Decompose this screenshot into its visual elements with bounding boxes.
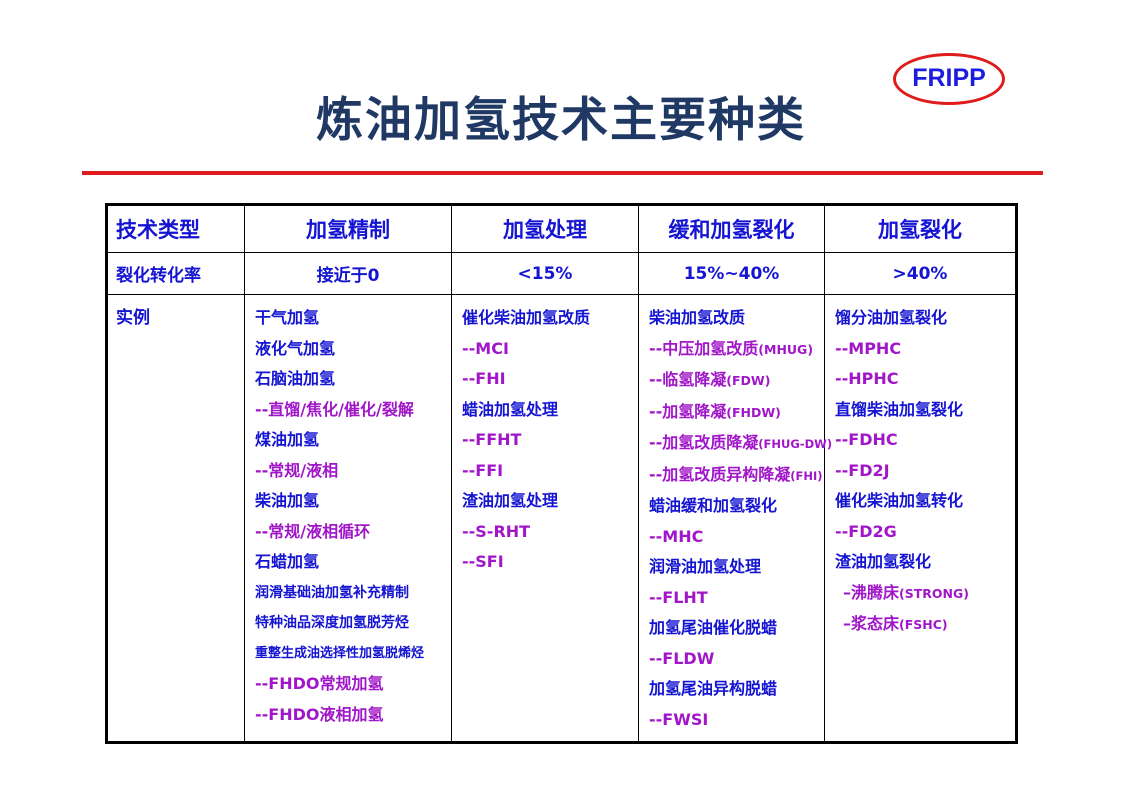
example-item-label: 煤油加氢 xyxy=(255,430,319,449)
example-item-label: 石蜡加氢 xyxy=(255,552,319,571)
example-item-label: –浆态床 xyxy=(843,614,899,633)
example-item-abbreviation: (FHI) xyxy=(790,469,822,483)
example-item: --FLHT xyxy=(649,583,820,614)
example-item: --MPHC xyxy=(835,334,1011,365)
example-item-label: --S-RHT xyxy=(462,522,530,541)
example-item-label: 柴油加氢改质 xyxy=(649,308,745,327)
slide-title: 炼油加氢技术主要种类 xyxy=(0,92,1122,150)
header-cell-tech-type: 技术类型 xyxy=(107,205,245,253)
example-item-label: --FDHC xyxy=(835,430,898,449)
examples-cell-hydrocracking: 馏分油加氢裂化--MPHC--HPHC直馏柴油加氢裂化--FDHC--FD2J催… xyxy=(825,295,1017,743)
example-item-label: --SFI xyxy=(462,552,504,571)
example-item-label: --HPHC xyxy=(835,369,899,388)
example-item: --FWSI xyxy=(649,705,820,736)
example-item-label: 润滑基础油加氢补充精制 xyxy=(255,585,409,601)
example-item-abbreviation: (FSHC) xyxy=(899,617,948,632)
example-item-label: 液化气加氢 xyxy=(255,339,335,358)
example-item-label: --常规/液相循环 xyxy=(255,522,370,541)
example-item-label: --FHDO液相加氢 xyxy=(255,705,384,724)
example-item-label: 加氢尾油催化脱蜡 xyxy=(649,618,777,637)
example-item: --HPHC xyxy=(835,364,1011,395)
header-cell-hydroprocessing: 加氢处理 xyxy=(452,205,639,253)
example-item-label: 石脑油加氢 xyxy=(255,369,335,388)
example-item-label: --FFHT xyxy=(462,430,521,449)
example-item: 渣油加氢处理 xyxy=(462,486,634,517)
header-cell-hydrocracking: 加氢裂化 xyxy=(825,205,1017,253)
example-item-label: --FHDO常规加氢 xyxy=(255,674,384,693)
example-item: –沸腾床(STRONG) xyxy=(835,578,1011,610)
example-item-label: 加氢尾油异构脱蜡 xyxy=(649,679,777,698)
example-item-label: --FFI xyxy=(462,461,503,480)
header-cell-mild-hydrocracking: 缓和加氢裂化 xyxy=(639,205,825,253)
example-item: --加氢降凝(FHDW) xyxy=(649,397,820,429)
example-item: --FD2J xyxy=(835,456,1011,487)
example-item: --FHDO常规加氢 xyxy=(255,669,447,700)
example-item: –浆态床(FSHC) xyxy=(835,609,1011,641)
conversion-rate-hydrotreating: 接近于0 xyxy=(245,253,452,295)
example-item: 柴油加氢 xyxy=(255,486,447,517)
example-item-label: --加氢改质降凝 xyxy=(649,433,758,452)
example-item: 蜡油加氢处理 xyxy=(462,395,634,426)
example-item: --FHI xyxy=(462,364,634,395)
example-item-label: --FD2J xyxy=(835,461,890,480)
example-item: --直馏/焦化/催化/裂解 xyxy=(255,395,447,426)
example-item: --FLDW xyxy=(649,644,820,675)
example-item: --MHC xyxy=(649,522,820,553)
example-item-label: --临氢降凝 xyxy=(649,370,726,389)
example-item-label: 渣油加氢处理 xyxy=(462,491,558,510)
example-item-label: --FHI xyxy=(462,369,506,388)
example-item-label: 催化柴油加氢转化 xyxy=(835,491,963,510)
example-list-hydrotreating: 干气加氢液化气加氢石脑油加氢--直馏/焦化/催化/裂解煤油加氢--常规/液相柴油… xyxy=(245,303,451,730)
example-item-label: 重整生成油选择性加氢脱烯烃 xyxy=(255,646,424,661)
example-item-label: --加氢改质异构降凝 xyxy=(649,465,790,484)
table-row-conversion-rate: 裂化转化率 接近于0 <15% 15%~40% >40% xyxy=(107,253,1017,295)
example-item-label: --FLDW xyxy=(649,649,714,668)
example-item: 石脑油加氢 xyxy=(255,364,447,395)
example-item-label: 蜡油加氢处理 xyxy=(462,400,558,419)
example-item-label: --常规/液相 xyxy=(255,461,338,480)
example-item-label: --中压加氢改质 xyxy=(649,339,758,358)
example-item-label: 催化柴油加氢改质 xyxy=(462,308,590,327)
example-item: --MCI xyxy=(462,334,634,365)
example-item: 直馏柴油加氢裂化 xyxy=(835,395,1011,426)
example-item: 催化柴油加氢改质 xyxy=(462,303,634,334)
examples-cell-mild-hydrocracking: 柴油加氢改质--中压加氢改质(MHUG)--临氢降凝(FDW)--加氢降凝(FH… xyxy=(639,295,825,743)
example-item-label: --FWSI xyxy=(649,710,708,729)
example-item: --加氢改质降凝(FHUG-DW) xyxy=(649,428,820,460)
example-item: 特种油品深度加氢脱芳烃 xyxy=(255,608,447,639)
example-item: 液化气加氢 xyxy=(255,334,447,365)
example-list-hydrocracking: 馏分油加氢裂化--MPHC--HPHC直馏柴油加氢裂化--FDHC--FD2J催… xyxy=(825,303,1015,641)
row-label-conversion-rate: 裂化转化率 xyxy=(107,253,245,295)
example-item-label: 馏分油加氢裂化 xyxy=(835,308,947,327)
example-item-abbreviation: (FDW) xyxy=(726,373,770,388)
example-item: --临氢降凝(FDW) xyxy=(649,365,820,397)
example-item: 加氢尾油异构脱蜡 xyxy=(649,674,820,705)
example-item: 润滑油加氢处理 xyxy=(649,552,820,583)
conversion-rate-hydrocracking: >40% xyxy=(825,253,1017,295)
example-item-abbreviation: (STRONG) xyxy=(899,586,969,601)
conversion-rate-mild-hydrocracking: 15%~40% xyxy=(639,253,825,295)
example-item-label: --MCI xyxy=(462,339,509,358)
example-item-label: --直馏/焦化/催化/裂解 xyxy=(255,400,414,419)
technology-comparison-table: 技术类型 加氢精制 加氢处理 缓和加氢裂化 加氢裂化 裂化转化率 接近于0 <1… xyxy=(105,203,1018,744)
example-item-label: --FD2G xyxy=(835,522,897,541)
header-cell-hydrotreating: 加氢精制 xyxy=(245,205,452,253)
example-item-label: 特种油品深度加氢脱芳烃 xyxy=(255,615,409,631)
example-item-label: –沸腾床 xyxy=(843,583,899,602)
example-item-label: 渣油加氢裂化 xyxy=(835,552,931,571)
example-item: --FFHT xyxy=(462,425,634,456)
example-item: 重整生成油选择性加氢脱烯烃 xyxy=(255,639,447,670)
example-item-label: 直馏柴油加氢裂化 xyxy=(835,400,963,419)
example-item: --FDHC xyxy=(835,425,1011,456)
example-item: 催化柴油加氢转化 xyxy=(835,486,1011,517)
example-item: 润滑基础油加氢补充精制 xyxy=(255,578,447,609)
conversion-rate-hydroprocessing: <15% xyxy=(452,253,639,295)
row-label-examples: 实例 xyxy=(107,295,245,743)
example-item-label: 柴油加氢 xyxy=(255,491,319,510)
example-item-label: 干气加氢 xyxy=(255,308,319,327)
example-item: 石蜡加氢 xyxy=(255,547,447,578)
title-underline-rule xyxy=(82,171,1043,175)
example-item: --中压加氢改质(MHUG) xyxy=(649,334,820,366)
example-item-abbreviation: (FHUG-DW) xyxy=(758,437,832,451)
example-item: 蜡油缓和加氢裂化 xyxy=(649,491,820,522)
example-list-hydroprocessing: 催化柴油加氢改质--MCI--FHI蜡油加氢处理--FFHT--FFI渣油加氢处… xyxy=(452,303,638,578)
example-item-label: 蜡油缓和加氢裂化 xyxy=(649,496,777,515)
example-item: --S-RHT xyxy=(462,517,634,548)
example-item-abbreviation: (FHDW) xyxy=(726,405,781,420)
example-item: 煤油加氢 xyxy=(255,425,447,456)
examples-cell-hydrotreating: 干气加氢液化气加氢石脑油加氢--直馏/焦化/催化/裂解煤油加氢--常规/液相柴油… xyxy=(245,295,452,743)
example-item: --SFI xyxy=(462,547,634,578)
example-item-abbreviation: (MHUG) xyxy=(758,342,813,357)
example-item: --常规/液相 xyxy=(255,456,447,487)
example-item: --加氢改质异构降凝(FHI) xyxy=(649,460,820,492)
example-item: 馏分油加氢裂化 xyxy=(835,303,1011,334)
example-list-mild-hydrocracking: 柴油加氢改质--中压加氢改质(MHUG)--临氢降凝(FDW)--加氢降凝(FH… xyxy=(639,303,824,735)
table-header-row: 技术类型 加氢精制 加氢处理 缓和加氢裂化 加氢裂化 xyxy=(107,205,1017,253)
example-item: --常规/液相循环 xyxy=(255,517,447,548)
example-item: 干气加氢 xyxy=(255,303,447,334)
example-item: --FFI xyxy=(462,456,634,487)
example-item-label: 润滑油加氢处理 xyxy=(649,557,761,576)
example-item-label: --MHC xyxy=(649,527,703,546)
example-item: 渣油加氢裂化 xyxy=(835,547,1011,578)
example-item-label: --FLHT xyxy=(649,588,708,607)
example-item: --FD2G xyxy=(835,517,1011,548)
examples-cell-hydroprocessing: 催化柴油加氢改质--MCI--FHI蜡油加氢处理--FFHT--FFI渣油加氢处… xyxy=(452,295,639,743)
table-row-examples: 实例 干气加氢液化气加氢石脑油加氢--直馏/焦化/催化/裂解煤油加氢--常规/液… xyxy=(107,295,1017,743)
example-item: 柴油加氢改质 xyxy=(649,303,820,334)
example-item-label: --加氢降凝 xyxy=(649,402,726,421)
example-item: --FHDO液相加氢 xyxy=(255,700,447,731)
example-item: 加氢尾油催化脱蜡 xyxy=(649,613,820,644)
example-item-label: --MPHC xyxy=(835,339,901,358)
